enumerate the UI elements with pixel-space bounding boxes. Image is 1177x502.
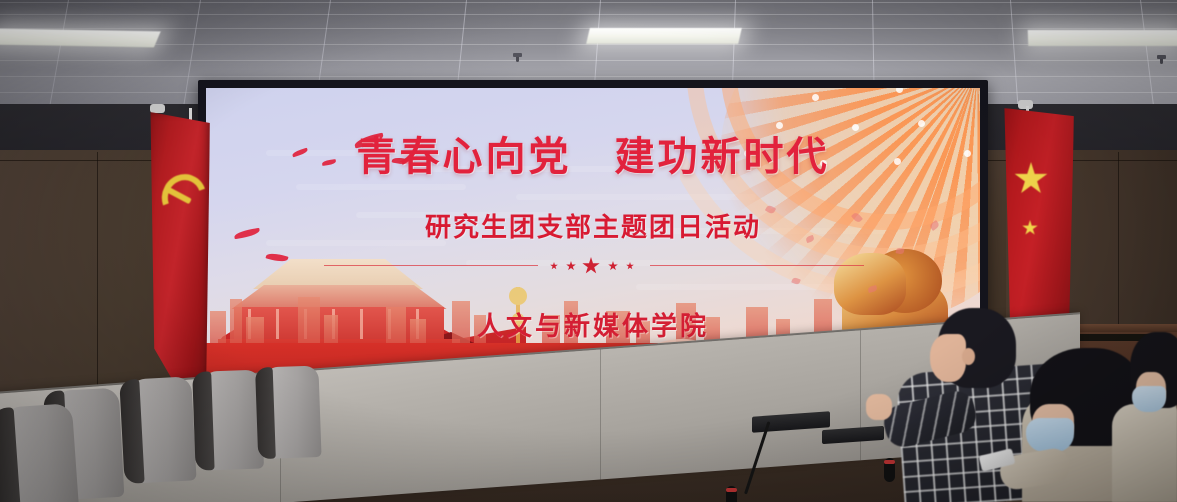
party-flag xyxy=(148,112,210,387)
ceiling-light-right xyxy=(1028,30,1177,46)
star-icon xyxy=(1022,220,1038,236)
conference-room-photo: 青春心向党 建功新时代 研究生团支部主题团日活动 人文与新媒体学院 xyxy=(0,0,1177,502)
conference-chair xyxy=(255,365,327,462)
conference-chair xyxy=(0,403,87,502)
microphone-indicator xyxy=(884,460,895,464)
sprinkler-head-right xyxy=(1157,55,1166,59)
star-icon xyxy=(550,262,558,270)
ceiling-light-left xyxy=(0,29,161,48)
star-icon xyxy=(582,257,600,275)
hammer-sickle-icon xyxy=(162,174,196,214)
wall-seam xyxy=(1118,152,1119,332)
screen-subtitle: 研究生团支部主题团日活动 xyxy=(206,207,980,244)
face-mask xyxy=(1026,418,1074,452)
star-icon xyxy=(626,262,634,270)
sprinkler-head-center xyxy=(513,53,522,57)
star-icon xyxy=(608,261,618,271)
screen-main-title: 青春心向党 建功新时代 xyxy=(206,124,980,182)
conference-chair xyxy=(119,376,203,488)
face-mask xyxy=(1132,386,1166,412)
star-icon xyxy=(566,261,576,271)
star-icon xyxy=(1014,162,1048,196)
star-divider xyxy=(324,258,864,272)
ceiling-light-center xyxy=(586,28,742,44)
microphone-indicator xyxy=(726,488,737,492)
flag-finial-left xyxy=(150,104,165,113)
